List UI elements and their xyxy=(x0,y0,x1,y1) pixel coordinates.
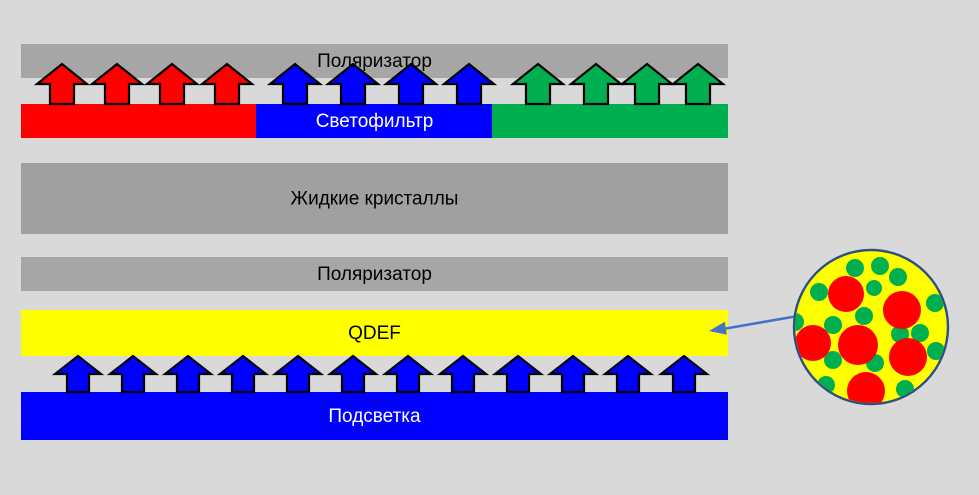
quantum-dot-green-1 xyxy=(846,259,864,277)
quantum-dot-red-3 xyxy=(838,325,878,365)
lcd-qdef-diagram: ПоляризаторСветофильтрЖидкие кристаллыПо… xyxy=(0,0,979,495)
label-top-polarizer: Поляризатор xyxy=(317,51,432,72)
layer-segment-filter-red xyxy=(21,104,256,138)
quantum-dot-green-4 xyxy=(866,280,882,296)
quantum-dot-green-7 xyxy=(824,316,842,334)
label-qdef: QDEF xyxy=(348,323,401,344)
quantum-dot-green-2 xyxy=(871,257,889,275)
label-liquid-crystals: Жидкие кристаллы xyxy=(291,189,459,210)
label-bottom-polarizer: Поляризатор xyxy=(317,264,432,285)
quantum-dot-red-5 xyxy=(889,338,927,376)
label-color-filter: Светофильтр xyxy=(316,111,434,132)
quantum-dot-red-1 xyxy=(828,276,864,312)
quantum-dot-green-3 xyxy=(889,268,907,286)
quantum-dot-green-5 xyxy=(810,283,828,301)
label-backlight: Подсветка xyxy=(328,406,421,427)
diagram-canvas: ПоляризаторСветофильтрЖидкие кристаллыПо… xyxy=(0,0,979,495)
quantum-dot-green-6 xyxy=(855,307,873,325)
layer-segment-filter-green xyxy=(492,104,728,138)
quantum-dot-red-2 xyxy=(883,291,921,329)
